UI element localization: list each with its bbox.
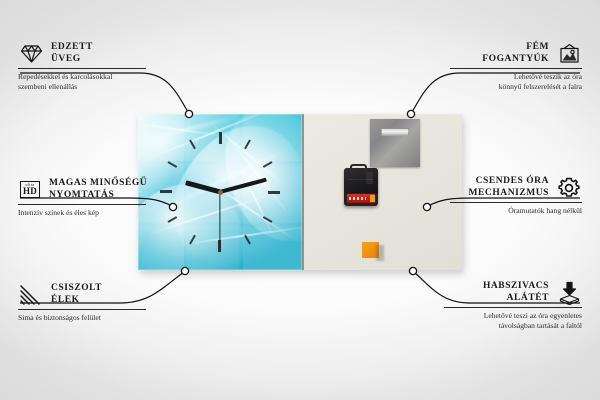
callout-title: MAGAS MINŐSÉGŰ NYOMTATÁS <box>49 178 147 201</box>
callout-description: Lehetővé teszik az óra könnyű felszerelé… <box>450 72 582 91</box>
callout-title: EDZETT ÜVEG <box>51 42 93 65</box>
infographic-canvas: EDZETT ÜVEG Repedésekkel és karcolásokka… <box>0 0 600 400</box>
callout-title: HABSZIVACS ALÁTÉT <box>444 281 549 304</box>
callout-title: FÉM FOGANTYÚK <box>450 42 549 65</box>
clock-back-panel <box>302 114 462 270</box>
polished-edge-icon <box>18 284 44 306</box>
gear-icon <box>556 177 582 199</box>
callout-description: Óramutatók hang nélkül <box>450 206 582 216</box>
metal-hanger-plate <box>370 119 420 167</box>
callout-description: Repedésekkel és karcolásokkal szembeni e… <box>18 72 150 91</box>
diamond-icon <box>18 43 44 65</box>
callout-foam-spacer: HABSZIVACS ALÁTÉT Lehetővé teszi az óra … <box>444 281 582 330</box>
ultra-hd-bottom-label: HD <box>23 187 37 196</box>
callout-divider <box>18 309 146 310</box>
product-image-group <box>138 114 462 270</box>
callout-description: Lehetővé teszi az óra egyenletes távolsá… <box>444 311 582 330</box>
callout-title: CSISZOLT ÉLEK <box>51 283 102 306</box>
callout-description: Intenzív színek és éles kép <box>18 208 164 218</box>
foam-pad-icon <box>556 282 582 304</box>
callout-silent-mechanism: CSENDES ÓRA MECHANIZMUS Óramutatók hang … <box>450 176 582 216</box>
foam-spacer-pad <box>362 242 379 258</box>
callout-title: CSENDES ÓRA MECHANIZMUS <box>450 176 549 199</box>
callout-high-quality-print: ultra HD MAGAS MINŐSÉGŰ NYOMTATÁS Intenz… <box>18 178 164 218</box>
callout-description: Sima és biztonságos felület <box>18 313 150 323</box>
picture-frame-icon <box>556 43 582 65</box>
callout-divider <box>450 68 582 69</box>
callout-divider <box>18 68 146 69</box>
panel-edge <box>302 114 304 270</box>
callout-divider <box>444 307 582 308</box>
ultra-hd-icon: ultra HD <box>18 179 42 201</box>
callout-metal-handles: FÉM FOGANTYÚK Lehetővé teszik az óra kön… <box>450 42 582 91</box>
clock-center-cap <box>218 190 223 195</box>
mechanism-hanging-loop <box>350 164 367 174</box>
callout-divider <box>18 204 146 205</box>
battery <box>347 194 375 203</box>
callout-polished-edges: CSISZOLT ÉLEK Sima és biztonságos felüle… <box>18 283 150 323</box>
callout-divider <box>450 202 582 203</box>
clock-tick-12 <box>219 132 221 192</box>
hanger-slot <box>381 128 409 136</box>
callout-tempered-glass: EDZETT ÜVEG Repedésekkel és karcolásokka… <box>18 42 150 91</box>
